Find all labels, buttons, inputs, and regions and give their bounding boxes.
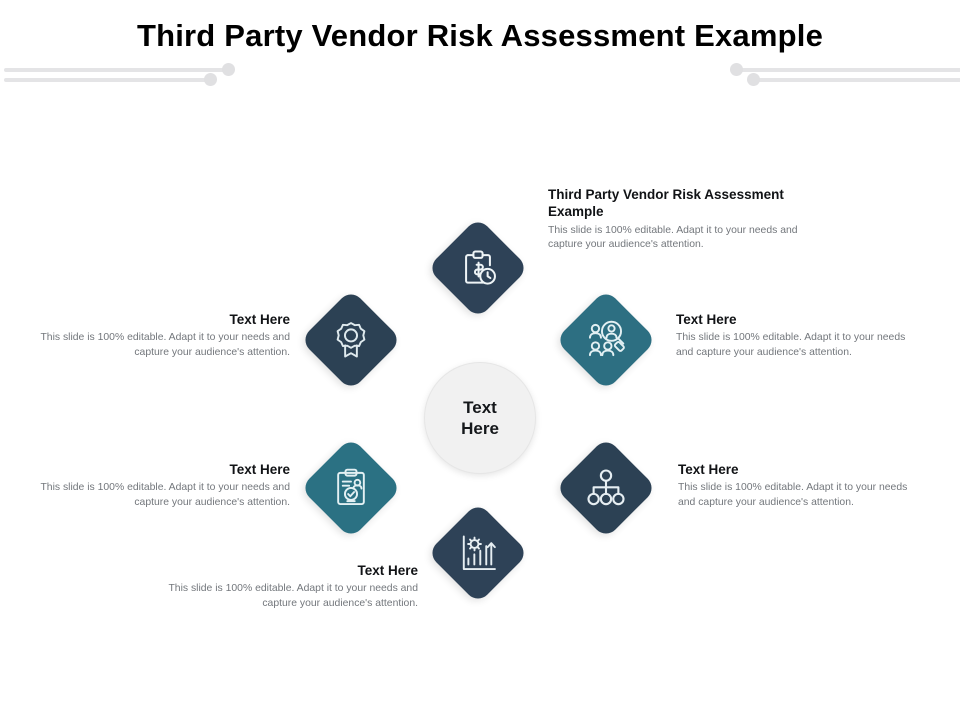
org-chart-icon (584, 466, 628, 510)
text-block-title: Text Here (36, 311, 290, 328)
divider-line-top (738, 68, 960, 72)
text-block-title: Text Here (678, 461, 926, 478)
clipboard-check-person-icon (329, 466, 373, 510)
center-node-line1: Text (463, 398, 497, 417)
text-block-body: This slide is 100% editable. Adapt it to… (678, 481, 926, 511)
people-search-icon (584, 318, 628, 362)
text-block-vendor-cost-time: Third Party Vendor Risk Assessment Examp… (548, 186, 802, 253)
divider-right (710, 64, 960, 90)
text-block-body: This slide is 100% editable. Adapt it to… (36, 331, 290, 361)
text-block-vendor-certification: Text Here This slide is 100% editable. A… (36, 311, 290, 361)
text-block-title: Text Here (36, 461, 290, 478)
text-block-body: This slide is 100% editable. Adapt it to… (36, 481, 290, 511)
award-badge-icon (329, 318, 373, 362)
divider-dot-top (222, 63, 235, 76)
text-block-body: This slide is 100% editable. Adapt it to… (548, 224, 802, 254)
text-block-vendor-hierarchy: Text Here This slide is 100% editable. A… (678, 461, 926, 511)
text-block-vendor-performance: Text Here This slide is 100% editable. A… (160, 562, 418, 612)
page-title: Third Party Vendor Risk Assessment Examp… (0, 18, 960, 54)
text-block-title: Text Here (160, 562, 418, 579)
center-node[interactable]: Text Here (424, 362, 536, 474)
divider-left (0, 64, 250, 90)
center-node-line2: Here (461, 419, 499, 438)
divider-dot-bottom (747, 73, 760, 86)
text-block-body: This slide is 100% editable. Adapt it to… (160, 582, 418, 612)
bar-chart-gear-growth-icon (456, 531, 500, 575)
divider-dot-bottom (204, 73, 217, 86)
text-block-vendor-audit-checklist: Text Here This slide is 100% editable. A… (36, 461, 290, 511)
divider-dot-top (730, 63, 743, 76)
node-diamond-vendor-audit-checklist[interactable] (300, 437, 402, 539)
divider-line-bottom (4, 78, 209, 82)
text-block-title: Text Here (676, 311, 924, 328)
node-diamond-vendor-cost-time[interactable] (427, 217, 529, 319)
divider-line-top (4, 68, 226, 72)
text-block-body: This slide is 100% editable. Adapt it to… (676, 331, 924, 361)
slide-canvas: Third Party Vendor Risk Assessment Examp… (0, 0, 960, 720)
node-diamond-vendor-hierarchy[interactable] (555, 437, 657, 539)
node-diamond-vendor-performance[interactable] (427, 502, 529, 604)
divider-line-bottom (755, 78, 960, 82)
node-diamond-vendor-certification[interactable] (300, 289, 402, 391)
text-block-title: Third Party Vendor Risk Assessment Examp… (548, 186, 802, 221)
node-diamond-vendor-screening[interactable] (555, 289, 657, 391)
center-node-label: Text Here (461, 397, 499, 440)
text-block-vendor-screening: Text Here This slide is 100% editable. A… (676, 311, 924, 361)
clipboard-dollar-clock-icon (456, 246, 500, 290)
